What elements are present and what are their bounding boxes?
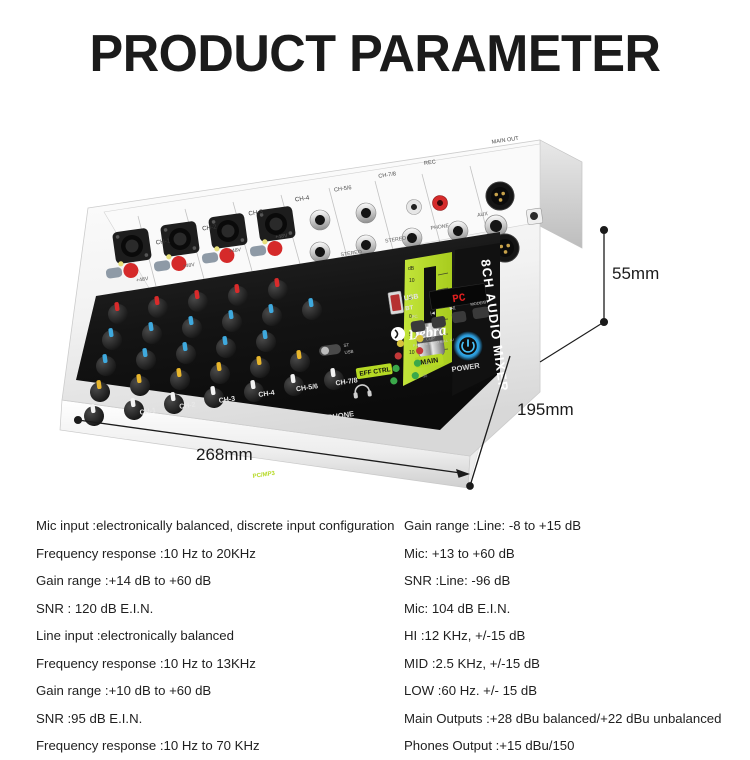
specification-table: Mic input :electronically balanced, disc… — [0, 512, 750, 750]
svg-text:PC: PC — [411, 314, 418, 320]
svg-text:10: 10 — [409, 350, 415, 356]
svg-text:ST: ST — [343, 342, 350, 348]
product-illustration: CH-1 CH-2 CH-3 CH-4 CH-5/6 CH-7/8 REC MA… — [0, 100, 750, 510]
spec-line: Gain range :+14 dB to +60 dB — [36, 567, 406, 595]
svg-text:PC/MP3: PC/MP3 — [252, 471, 276, 480]
spec-line: MID :2.5 KHz, +/-15 dB — [404, 650, 750, 678]
spec-line: LOW :60 Hz. +/- 15 dB — [404, 677, 750, 705]
spec-line: Gain range :Line: -8 to +15 dB — [404, 512, 750, 540]
spec-line: SNR : 120 dB E.I.N. — [36, 595, 406, 623]
dimension-height-label: 55mm — [612, 264, 659, 284]
spec-column-left: Mic input :electronically balanced, disc… — [36, 512, 406, 760]
dimension-width-label: 268mm — [196, 445, 253, 465]
page-title: PRODUCT PARAMETER — [11, 24, 739, 84]
mixer-drawing: CH-1 CH-2 CH-3 CH-4 CH-5/6 CH-7/8 REC MA… — [0, 100, 750, 510]
spec-line: SNR :95 dB E.I.N. — [36, 705, 406, 733]
dimension-depth-label: 195mm — [517, 400, 574, 420]
spec-line: Mic input :electronically balanced, disc… — [36, 512, 406, 540]
spec-line: Frequency response :10 Hz to 70 KHz — [36, 732, 406, 760]
spec-column-right: Gain range :Line: -8 to +15 dB Mic: +13 … — [404, 512, 750, 760]
spec-line: SNR :Line: -96 dB — [404, 567, 750, 595]
svg-text:dB: dB — [408, 266, 415, 272]
spec-line: Line input :electronically balanced — [36, 622, 406, 650]
spec-line: HI :12 KHz, +/-15 dB — [404, 622, 750, 650]
spec-line: Frequency response :10 Hz to 13KHz — [36, 650, 406, 678]
svg-text:▶||: ▶|| — [449, 305, 455, 311]
spec-line: Gain range :+10 dB to +60 dB — [36, 677, 406, 705]
spec-line: Phones Output :+15 dBu/150 — [404, 732, 750, 760]
svg-text:BT: BT — [405, 305, 414, 312]
spec-line: Frequency response :10 Hz to 20KHz — [36, 540, 406, 568]
power-button: POWER — [451, 331, 483, 374]
svg-text:10: 10 — [409, 278, 415, 284]
spec-line: Main Outputs :+28 dBu balanced/+22 dBu u… — [404, 705, 750, 733]
spec-line: Mic: 104 dB E.I.N. — [404, 595, 750, 623]
spec-line: Mic: +13 to +60 dB — [404, 540, 750, 568]
